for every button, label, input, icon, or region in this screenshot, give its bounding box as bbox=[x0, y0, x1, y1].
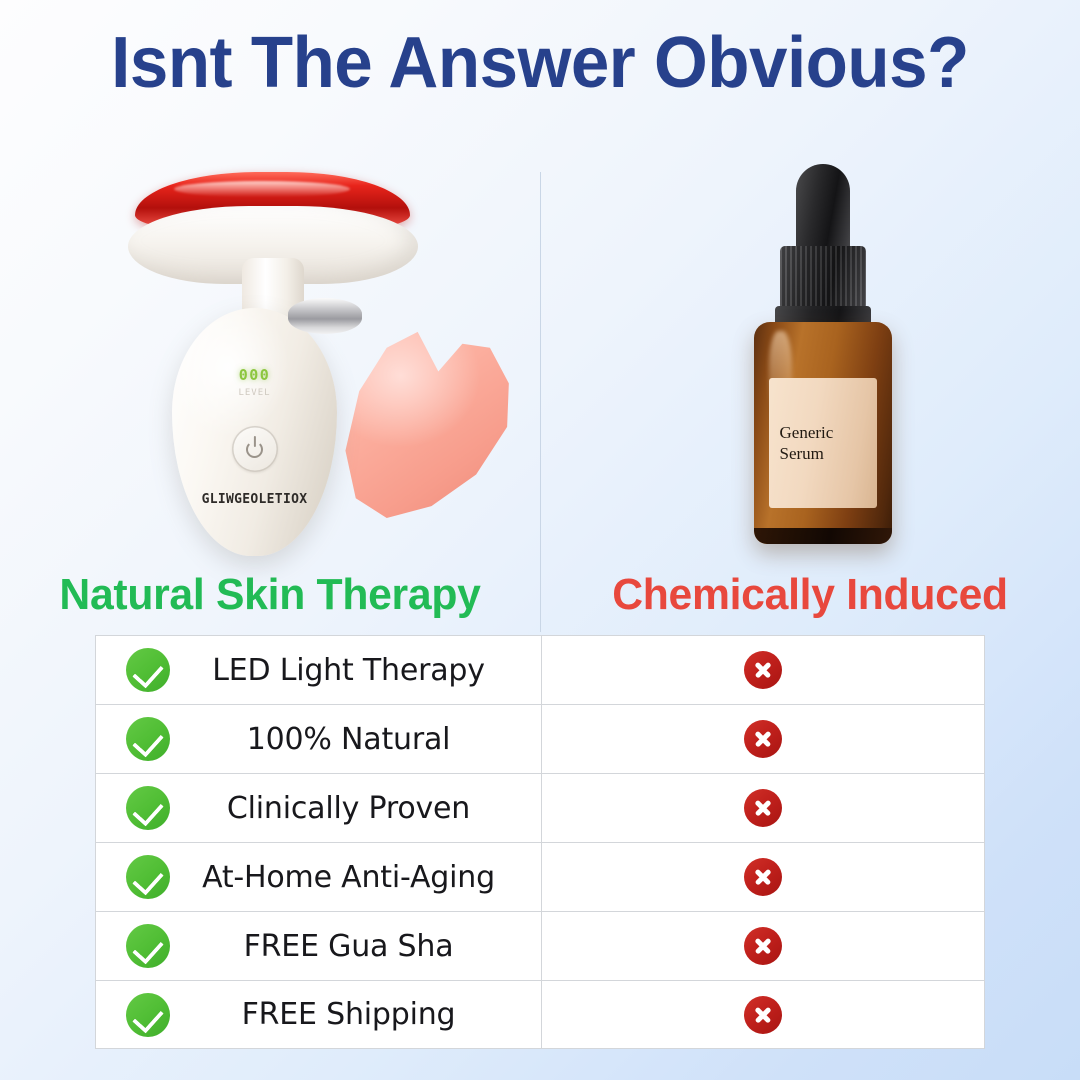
device-display-readout: 000 bbox=[172, 366, 337, 384]
device-brand-label: GLIWGEOLETIOX bbox=[172, 492, 337, 507]
table-row: FREE Shipping bbox=[95, 980, 985, 1049]
cross-icon bbox=[744, 996, 782, 1034]
table-row: 100% Natural bbox=[95, 704, 985, 773]
cell-natural: Clinically Proven bbox=[96, 774, 542, 842]
vertical-divider bbox=[540, 172, 541, 632]
bottle-label: Generic Serum bbox=[769, 378, 877, 508]
column-headers: Natural Skin Therapy Chemically Induced bbox=[0, 570, 1080, 626]
cell-chemical bbox=[542, 705, 984, 773]
cell-natural: 100% Natural bbox=[96, 705, 542, 773]
cell-natural: LED Light Therapy bbox=[96, 636, 542, 704]
check-icon bbox=[126, 786, 170, 830]
device-handle: 000 LEVEL GLIWGEOLETIOX bbox=[172, 308, 337, 556]
dropper-collar bbox=[780, 246, 866, 312]
check-icon bbox=[126, 855, 170, 899]
cross-icon bbox=[744, 927, 782, 965]
feature-label: Clinically Proven bbox=[170, 791, 541, 826]
table-row: FREE Gua Sha bbox=[95, 911, 985, 980]
cell-natural: At-Home Anti-Aging bbox=[96, 843, 542, 911]
table-row: Clinically Proven bbox=[95, 773, 985, 842]
cell-natural: FREE Shipping bbox=[96, 981, 542, 1048]
feature-label: At-Home Anti-Aging bbox=[156, 860, 541, 895]
cell-natural: FREE Gua Sha bbox=[96, 912, 542, 980]
feature-label: FREE Gua Sha bbox=[170, 929, 541, 964]
comparison-table: LED Light Therapy 100% Natural Clinicall… bbox=[95, 635, 985, 1049]
cell-chemical bbox=[542, 774, 984, 842]
table-row: LED Light Therapy bbox=[95, 635, 985, 704]
feature-label: 100% Natural bbox=[170, 722, 541, 757]
gua-sha-stone-image bbox=[342, 320, 514, 518]
cross-icon bbox=[744, 789, 782, 827]
cell-chemical bbox=[542, 981, 984, 1048]
page-title: Isnt The Answer Obvious? bbox=[22, 26, 1059, 102]
cell-chemical bbox=[542, 636, 984, 704]
feature-label: FREE Shipping bbox=[170, 997, 541, 1032]
cross-icon bbox=[744, 858, 782, 896]
device-head-body bbox=[128, 206, 418, 284]
cell-chemical bbox=[542, 912, 984, 980]
device-silver-ring bbox=[288, 298, 362, 334]
check-icon bbox=[126, 717, 170, 761]
device-display-subtext: LEVEL bbox=[172, 388, 337, 398]
bottle-label-text: Generic Serum bbox=[780, 422, 834, 465]
column-header-natural: Natural Skin Therapy bbox=[8, 570, 532, 620]
cell-chemical bbox=[542, 843, 984, 911]
check-icon bbox=[126, 993, 170, 1037]
feature-label: LED Light Therapy bbox=[170, 653, 541, 688]
column-header-chemical: Chemically Induced bbox=[548, 570, 1072, 620]
power-button-icon bbox=[232, 426, 278, 472]
check-icon bbox=[126, 924, 170, 968]
cross-icon bbox=[744, 651, 782, 689]
led-neck-therapy-device-image: 000 LEVEL GLIWGEOLETIOX bbox=[120, 160, 530, 560]
generic-serum-bottle-image: Generic Serum bbox=[735, 164, 910, 554]
cross-icon bbox=[744, 720, 782, 758]
check-icon bbox=[126, 648, 170, 692]
power-glyph-icon bbox=[246, 441, 263, 458]
bottle-base bbox=[754, 528, 892, 544]
table-row: At-Home Anti-Aging bbox=[95, 842, 985, 911]
